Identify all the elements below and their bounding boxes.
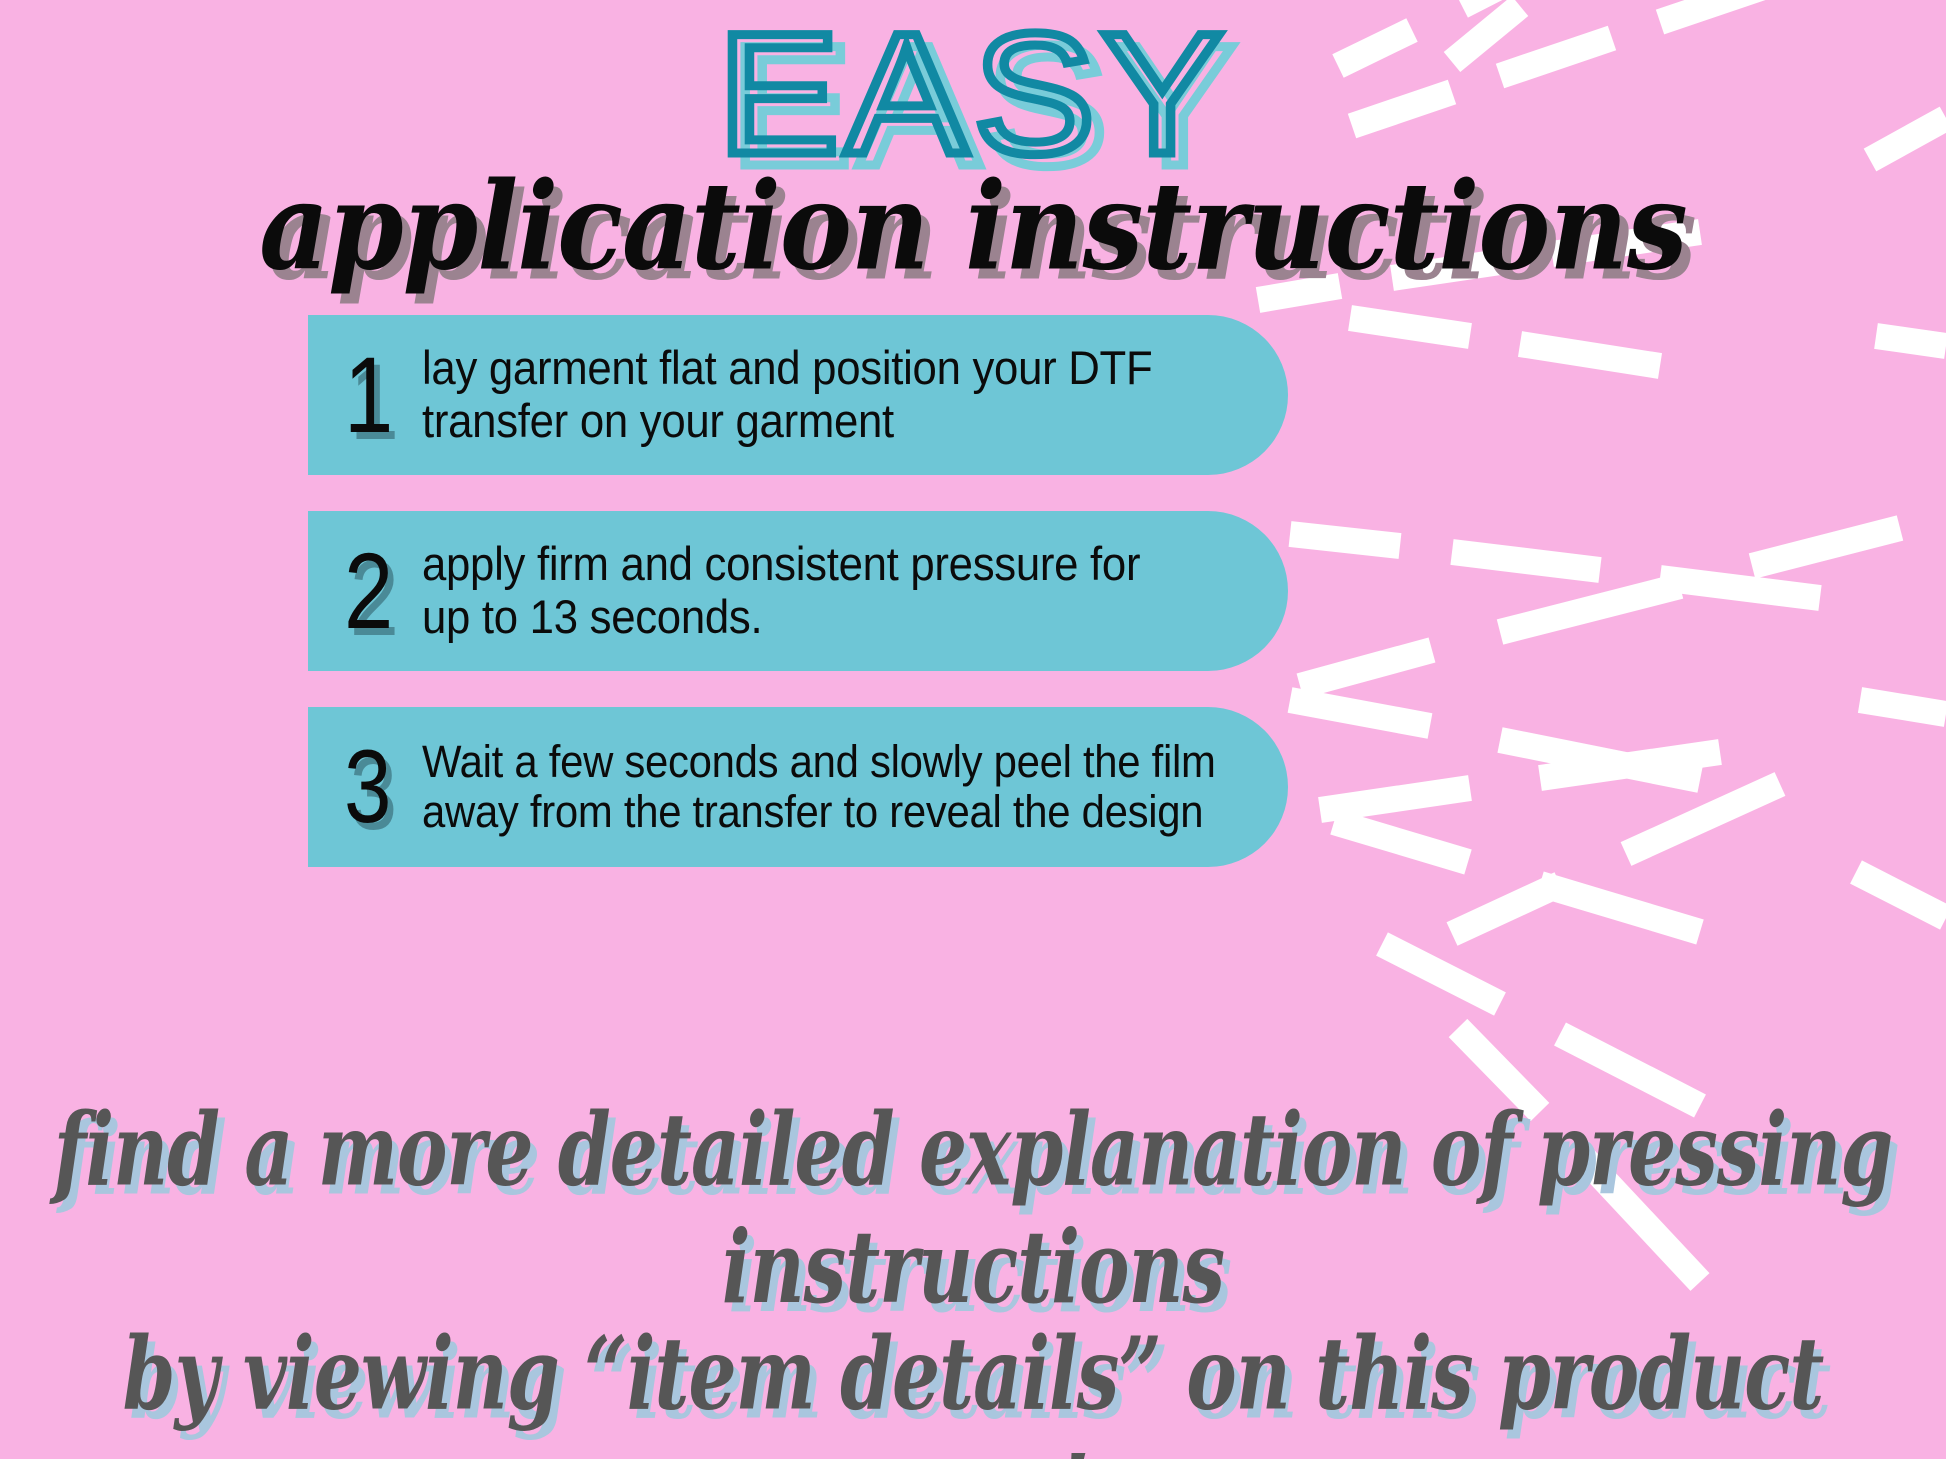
poster-canvas: EASY EASY application instructions 1 lay… — [0, 0, 1946, 1459]
step-item-1: 1 lay garment flat and position your DTF… — [308, 315, 1288, 475]
step-text-2: apply firm and consistent pressure for u… — [422, 538, 1140, 643]
step-item-3: 3 Wait a few seconds and slowly peel the… — [308, 707, 1288, 867]
footer-line-1: find a more detailed explanation of pres… — [29, 1092, 1917, 1328]
steps-list: 1 lay garment flat and position your DTF… — [308, 315, 1288, 903]
step-item-2: 2 apply firm and consistent pressure for… — [308, 511, 1288, 671]
footer-line-2: by viewing “item details” on this produc… — [29, 1316, 1917, 1459]
title-easy: EASY EASY — [717, 8, 1229, 180]
page-title: EASY EASY — [0, 8, 1946, 180]
footer-note: find a more detailed explanation of pres… — [0, 1118, 1946, 1459]
step-text-3: Wait a few seconds and slowly peel the f… — [422, 737, 1216, 838]
page-subtitle: application instructions — [259, 161, 1687, 294]
step-text-1: lay garment flat and position your DTF t… — [422, 342, 1152, 447]
step-number-1: 1 — [344, 341, 395, 449]
step-number-3: 3 — [344, 735, 395, 839]
page-subtitle-wrap: application instructions — [0, 168, 1946, 287]
step-number-2: 2 — [344, 537, 395, 645]
